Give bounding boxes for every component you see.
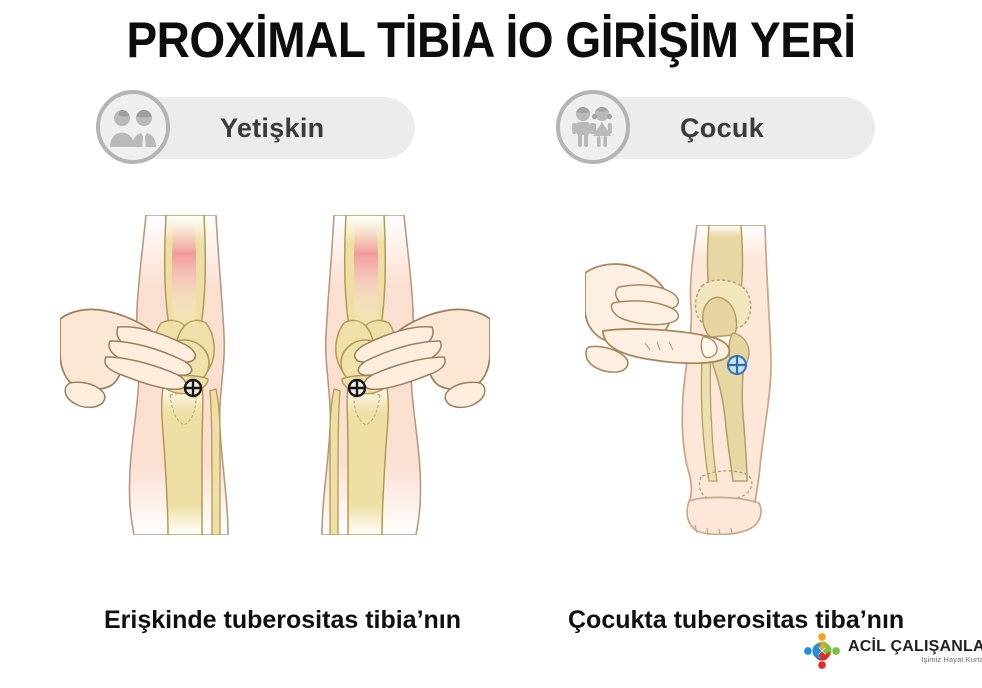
adult-caption: Erişkinde tuberositas tibia’nın 1-2 cm a… bbox=[104, 540, 461, 688]
two-children-icon bbox=[556, 90, 630, 164]
badge-adult-label: Yetişkin bbox=[220, 113, 324, 144]
child-leg-palpation-illustration bbox=[585, 225, 915, 535]
logo-text: ACİL ÇALIŞANLARI İşimiz Hayat Kurtarmak bbox=[848, 638, 982, 665]
badge-adult: Yetişkin bbox=[110, 97, 415, 159]
adult-knee-palpation-illustration bbox=[60, 215, 490, 535]
badge-child-label: Çocuk bbox=[680, 113, 764, 144]
logo-name: ACİL ÇALIŞANLARI bbox=[848, 638, 982, 655]
adult-caption-line-1: Erişkinde tuberositas tibia’nın bbox=[104, 604, 461, 636]
brand-logo[interactable]: ACİL ÇALIŞANLARI İşimiz Hayat Kurtarmak bbox=[802, 628, 972, 674]
infographic-poster: PROXİMAL TİBİA İO GİRİŞİM YERİ Yetişkin bbox=[0, 0, 982, 688]
logo-tagline: İşimiz Hayat Kurtarmak bbox=[848, 655, 982, 665]
pinwheel-people-icon bbox=[802, 631, 842, 671]
page-title: PROXİMAL TİBİA İO GİRİŞİM YERİ bbox=[39, 12, 942, 68]
two-adults-icon bbox=[96, 90, 170, 164]
badge-child: Çocuk bbox=[570, 97, 875, 159]
